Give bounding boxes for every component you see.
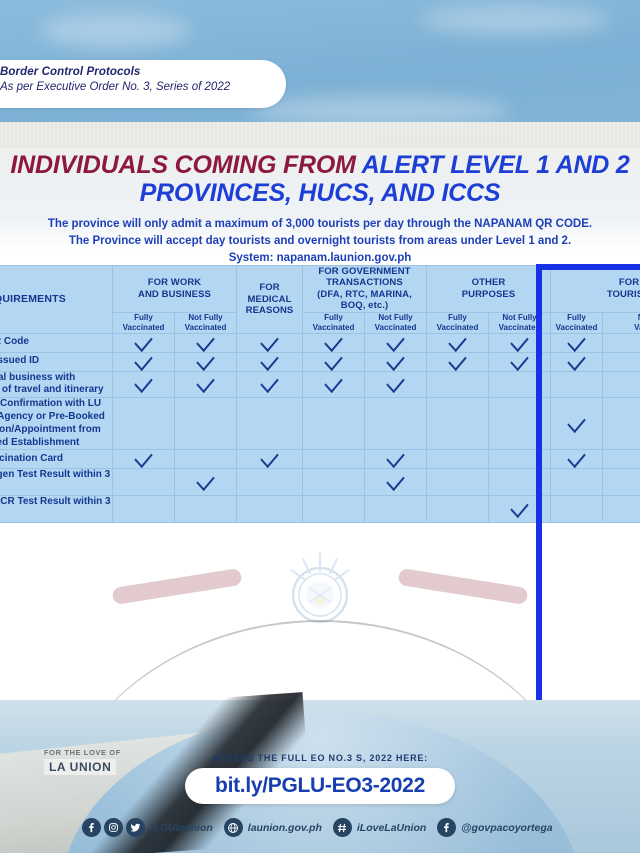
cell-work-fully xyxy=(113,495,175,522)
cta-label: ACCESS THE FULL EO NO.3 S, 2022 HERE: xyxy=(0,753,640,763)
cell-work-not-fully xyxy=(175,352,237,371)
cell-gov-not-fully xyxy=(365,469,427,496)
cell-other-fully xyxy=(427,398,489,450)
row-label: Negative RT-PCR Test Result within 3 Day… xyxy=(0,495,113,522)
cell-tourism-fully xyxy=(551,450,603,469)
cell-gov-not-fully xyxy=(365,450,427,469)
checkmark-icon xyxy=(134,447,152,468)
cell-other-not-fully xyxy=(489,450,551,469)
checkmark-icon xyxy=(386,330,404,351)
cell-medical xyxy=(237,352,303,371)
checkmark-icon xyxy=(324,372,342,393)
cell-other-not-fully xyxy=(489,371,551,398)
cell-tourism-fully xyxy=(551,371,603,398)
row-label: Tour Booking Confirmation with LU Based … xyxy=(0,398,113,450)
cell-medical xyxy=(237,333,303,352)
cell-work-not-fully xyxy=(175,398,237,450)
cell-gov-not-fully xyxy=(365,495,427,522)
header-group-government: FOR GOVERNMENTTRANSACTIONS(DFA, RTC, MAR… xyxy=(303,266,427,313)
checkmark-icon xyxy=(196,330,214,351)
subtitle-line-2: The Province will accept day tourists an… xyxy=(0,233,640,250)
cell-other-fully xyxy=(427,352,489,371)
cell-other-not-fully xyxy=(489,495,551,522)
header-gov-fully: FullyVaccinated xyxy=(303,312,365,333)
cell-other-not-fully xyxy=(489,469,551,496)
table-row: NAPANAM QR Code xyxy=(0,333,640,352)
social-group-main: /LGUlaunion xyxy=(82,818,217,837)
cell-work-not-fully xyxy=(175,333,237,352)
checkmark-icon xyxy=(196,470,214,491)
cell-medical xyxy=(237,371,303,398)
cell-tourism-fully xyxy=(551,333,603,352)
hashtag-icon[interactable] xyxy=(333,818,352,837)
cell-gov-fully xyxy=(303,450,365,469)
checkmark-icon xyxy=(386,470,404,491)
cell-tourism-fully xyxy=(551,398,603,450)
cell-tourism-not-fully xyxy=(603,495,640,522)
cell-gov-not-fully xyxy=(365,333,427,352)
cell-work-fully xyxy=(113,450,175,469)
header-group-tourism: FORTOURISM xyxy=(551,266,640,313)
border-control-banner: Border Control Protocols As per Executiv… xyxy=(0,60,286,108)
cell-work-fully xyxy=(113,371,175,398)
title-part-1: INDIVIDUALS COMING FROM xyxy=(10,151,361,179)
checkmark-icon xyxy=(386,447,404,468)
checkmark-icon xyxy=(448,330,466,351)
facebook-icon[interactable] xyxy=(437,818,456,837)
checkmark-icon xyxy=(567,349,585,370)
table-group-header-row: REQUIREMENTS FOR WORKAND BUSINESS FORMED… xyxy=(0,266,640,313)
cell-work-not-fully xyxy=(175,450,237,469)
header-group-other: OTHERPURPOSES xyxy=(427,266,551,313)
header-work-fully: FullyVaccinated xyxy=(113,312,175,333)
row-label: COVID-19 Vaccination Card xyxy=(0,450,113,469)
cell-gov-not-fully xyxy=(365,371,427,398)
cell-other-not-fully xyxy=(489,352,551,371)
checkmark-icon xyxy=(134,372,152,393)
social-group-website: launion.gov.ph xyxy=(224,818,327,837)
checkmark-icon xyxy=(510,330,528,351)
cell-medical xyxy=(237,469,303,496)
table-row: Government Issued ID xyxy=(0,352,640,371)
checkmark-icon xyxy=(260,447,278,468)
checkmark-icon xyxy=(567,447,585,468)
header-requirements: REQUIREMENTS xyxy=(0,266,113,334)
checkmark-icon xyxy=(567,412,585,433)
cell-work-fully xyxy=(113,333,175,352)
row-label: Government Issued ID xyxy=(0,352,113,371)
header-tourism-fully: FullyVaccinated xyxy=(551,312,603,333)
table-row: Negative RT-PCR Test Result within 3 Day… xyxy=(0,495,640,522)
cell-gov-not-fully xyxy=(365,398,427,450)
header-group-medical: FORMEDICALREASONS xyxy=(237,266,303,334)
checkmark-icon xyxy=(567,330,585,351)
cell-gov-fully xyxy=(303,495,365,522)
subtitle-line-1: The province will only admit a maximum o… xyxy=(0,216,640,233)
cell-other-fully xyxy=(427,495,489,522)
cell-gov-fully xyxy=(303,333,365,352)
cell-other-fully xyxy=(427,469,489,496)
paper-edge-texture xyxy=(0,122,640,148)
globe-icon[interactable] xyxy=(224,818,243,837)
checkmark-icon xyxy=(196,349,214,370)
table-row: COVID-19 Vaccination Card xyxy=(0,450,640,469)
cell-work-fully xyxy=(113,352,175,371)
governor-handle: @govpacoyortega xyxy=(461,822,552,834)
facebook-icon[interactable] xyxy=(82,818,101,837)
cell-tourism-not-fully xyxy=(603,450,640,469)
cell-tourism-fully xyxy=(551,469,603,496)
cell-other-not-fully xyxy=(489,398,551,450)
banner-title: Border Control Protocols xyxy=(0,66,280,78)
row-label: NAPANAM QR Code xyxy=(0,333,113,352)
checkmark-icon xyxy=(510,349,528,370)
cta-link-button[interactable]: bit.ly/PGLU-EO3-2022 xyxy=(185,768,455,804)
table-row: Tour Booking Confirmation with LU Based … xyxy=(0,398,640,450)
requirements-table-container: REQUIREMENTS FOR WORKAND BUSINESS FORMED… xyxy=(0,265,640,707)
table-row: Negative Antigen Test Result within 3 Da… xyxy=(0,469,640,496)
cell-gov-fully xyxy=(303,352,365,371)
cell-tourism-not-fully xyxy=(603,371,640,398)
cell-tourism-fully xyxy=(551,495,603,522)
cell-tourism-not-fully xyxy=(603,352,640,371)
table-body: NAPANAM QR CodeGovernment Issued IDProof… xyxy=(0,333,640,522)
header-other-not-fully: Not FullyVaccinated xyxy=(489,312,551,333)
cell-work-not-fully xyxy=(175,371,237,398)
cloud-decoration xyxy=(40,14,190,48)
cell-work-fully xyxy=(113,398,175,450)
cell-other-fully xyxy=(427,371,489,398)
row-label: Negative Antigen Test Result within 3 Da… xyxy=(0,469,113,496)
cell-gov-fully xyxy=(303,371,365,398)
title-part-2: ALERT LEVEL 1 AND 2 xyxy=(362,151,630,179)
cell-tourism-not-fully xyxy=(603,469,640,496)
cell-tourism-not-fully xyxy=(603,333,640,352)
cell-medical xyxy=(237,398,303,450)
checkmark-icon xyxy=(324,330,342,351)
cell-tourism-fully xyxy=(551,352,603,371)
cell-other-fully xyxy=(427,450,489,469)
social-handle-main: /LGUlaunion xyxy=(150,822,212,834)
cell-medical xyxy=(237,450,303,469)
banner-subtitle: As per Executive Order No. 3, Series of … xyxy=(0,81,280,93)
header-work-not-fully: Not FullyVaccinated xyxy=(175,312,237,333)
checkmark-icon xyxy=(260,330,278,351)
social-group-hashtag: iLoveLaUnion xyxy=(333,818,431,837)
twitter-icon[interactable] xyxy=(126,818,145,837)
header-gov-not-fully: Not FullyVaccinated xyxy=(365,312,427,333)
checkmark-icon xyxy=(134,330,152,351)
cell-other-fully xyxy=(427,333,489,352)
checkmark-icon xyxy=(260,372,278,393)
social-footer: /LGUlaunion launion.gov.ph iLoveLaUnion … xyxy=(0,818,640,837)
cell-other-not-fully xyxy=(489,333,551,352)
checkmark-icon xyxy=(134,349,152,370)
checkmark-icon xyxy=(448,349,466,370)
subtitle-block: The province will only admit a maximum o… xyxy=(0,216,640,267)
row-label: Proof of official business with inclusiv… xyxy=(0,371,113,398)
cell-gov-fully xyxy=(303,469,365,496)
header-group-work: FOR WORKAND BUSINESS xyxy=(113,266,237,313)
cell-work-fully xyxy=(113,469,175,496)
checkmark-icon xyxy=(510,497,528,518)
table-row: Proof of official business with inclusiv… xyxy=(0,371,640,398)
cell-medical xyxy=(237,495,303,522)
cloud-decoration xyxy=(420,6,610,34)
cta-link-text: bit.ly/PGLU-EO3-2022 xyxy=(215,774,425,798)
checkmark-icon xyxy=(386,372,404,393)
website-url: launion.gov.ph xyxy=(248,822,322,834)
checkmark-icon xyxy=(260,349,278,370)
checkmark-icon xyxy=(386,349,404,370)
cell-work-not-fully xyxy=(175,469,237,496)
checkmark-icon xyxy=(196,372,214,393)
instagram-icon[interactable] xyxy=(104,818,123,837)
infographic-poster: Border Control Protocols As per Executiv… xyxy=(0,0,640,853)
page-title: INDIVIDUALS COMING FROM ALERT LEVEL 1 AN… xyxy=(0,152,640,206)
header-tourism-not-fully: Not FullyVaccinated xyxy=(603,312,640,333)
cell-gov-not-fully xyxy=(365,352,427,371)
cell-tourism-not-fully xyxy=(603,398,640,450)
title-line-2: PROVINCES, HUCS, AND ICCS xyxy=(0,180,640,207)
hashtag-text: iLoveLaUnion xyxy=(357,822,426,834)
cell-gov-fully xyxy=(303,398,365,450)
social-group-governor: @govpacoyortega xyxy=(437,818,557,837)
header-other-fully: FullyVaccinated xyxy=(427,312,489,333)
checkmark-icon xyxy=(324,349,342,370)
requirements-table: REQUIREMENTS FOR WORKAND BUSINESS FORMED… xyxy=(0,265,640,523)
cell-work-not-fully xyxy=(175,495,237,522)
